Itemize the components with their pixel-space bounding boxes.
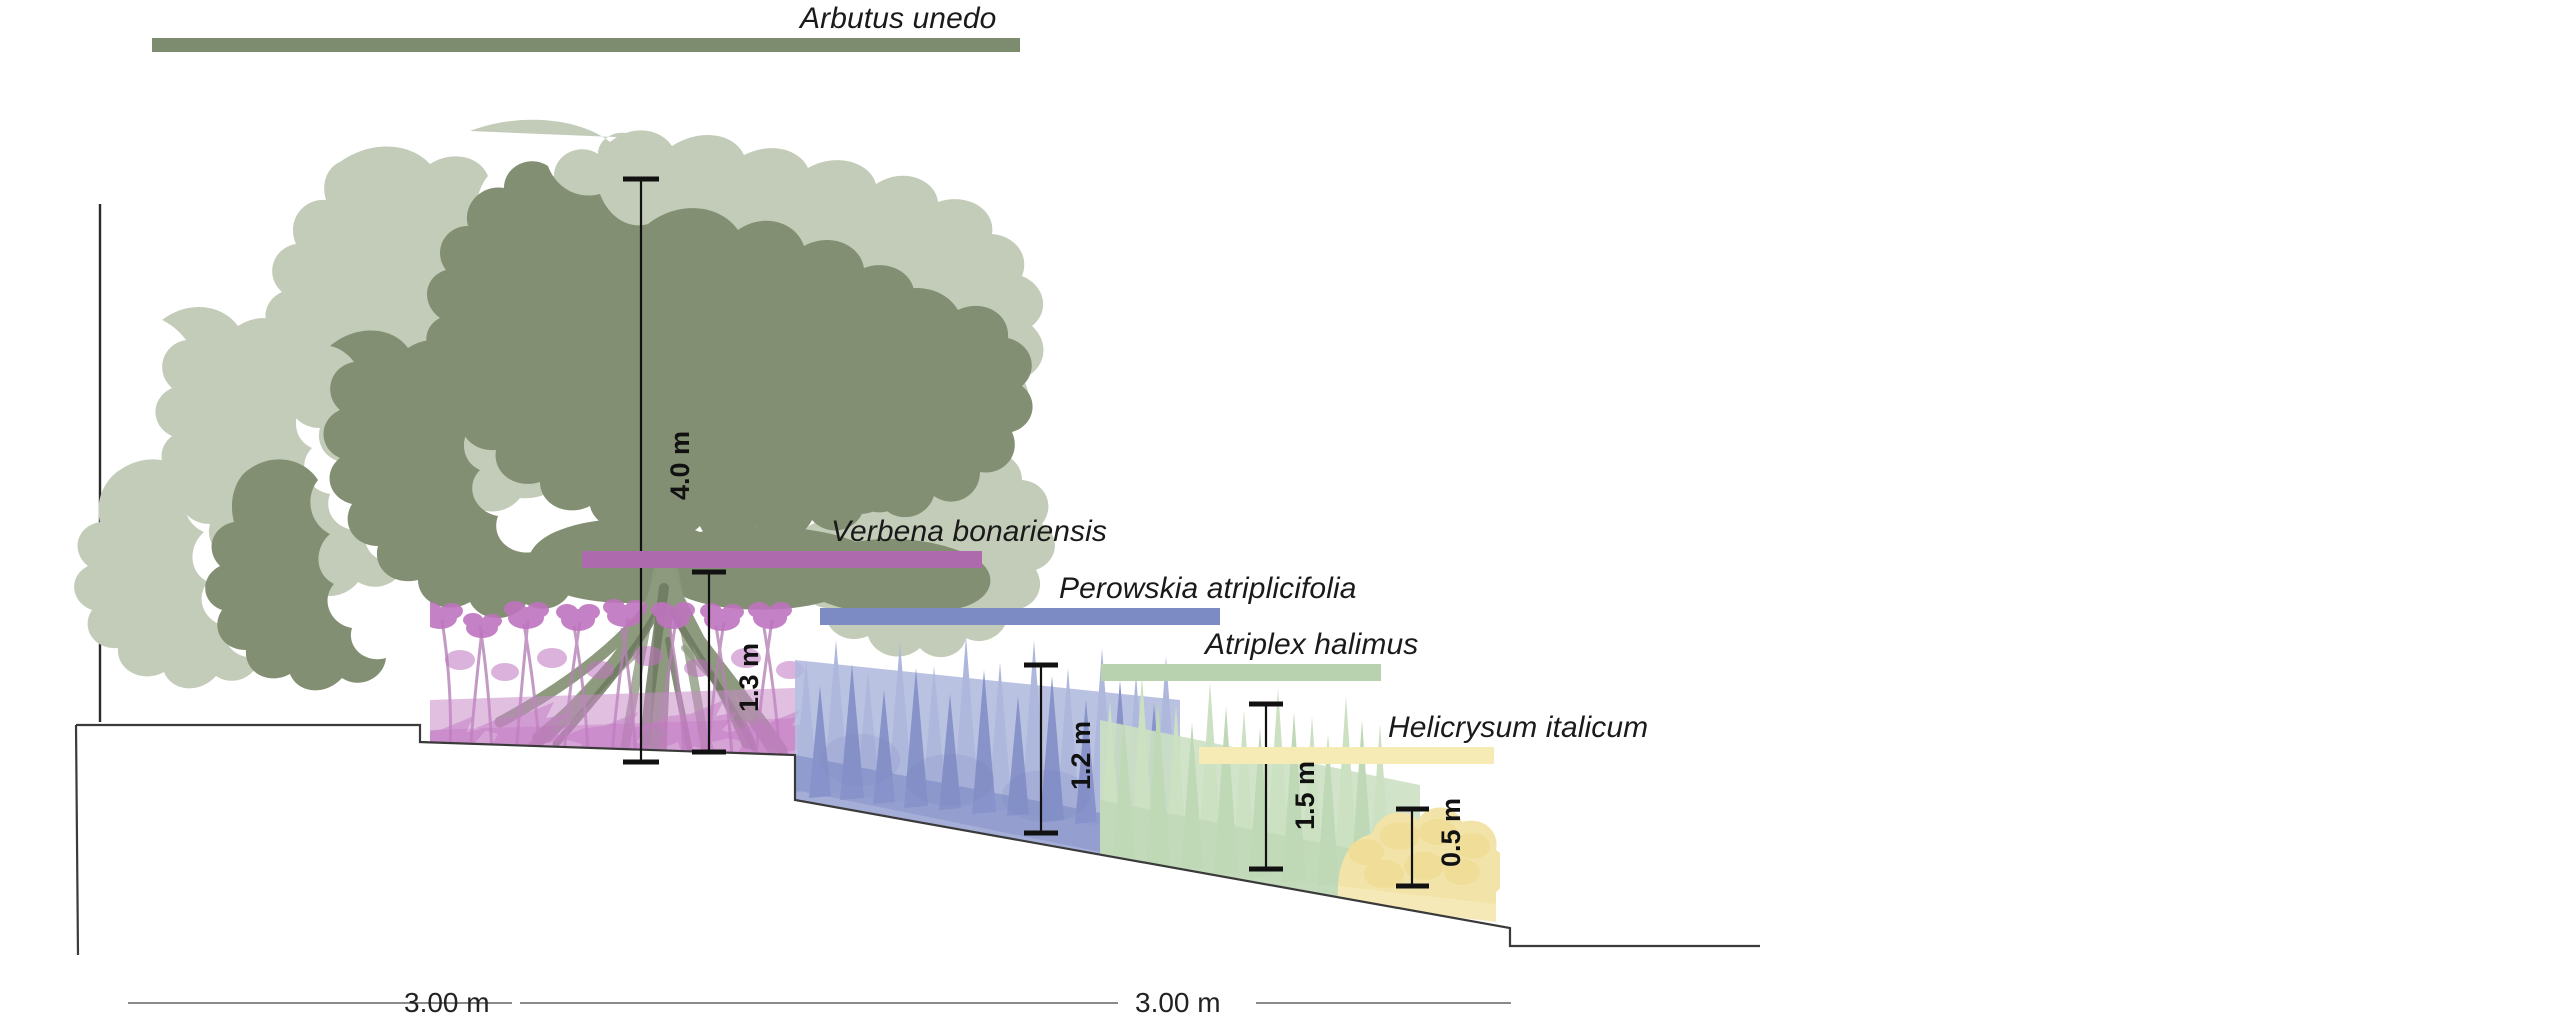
height-label-verbena-bonariensis: 1.3 m [734, 643, 765, 712]
species-bar-verbena-bonariensis [582, 551, 982, 568]
height-label-helicrysum-italicum: 0.5 m [1436, 798, 1467, 867]
species-label-atriplex-halimus: Atriplex halimus [1205, 628, 1418, 662]
species-bar-helicrysum-italicum [1199, 747, 1494, 764]
species-label-helicrysum-italicum: Helicrysum italicum [1388, 711, 1648, 745]
species-bar-atriplex-halimus [1101, 664, 1381, 681]
height-label-atriplex-halimus: 1.5 m [1290, 761, 1321, 830]
cross-section-drawing [0, 0, 2560, 1023]
species-bar-arbutus-unedo [152, 38, 1020, 52]
species-label-arbutus-unedo: Arbutus unedo [800, 2, 996, 36]
species-label-verbena-bonariensis: Verbena bonariensis [831, 515, 1107, 549]
plan-dimension-label-1: 3.00 m [404, 987, 490, 1019]
diagram-canvas: Arbutus unedo Verbena bonariensis Perows… [0, 0, 2560, 1023]
species-label-perowskia-atriplicifolia: Perowskia atriplicifolia [1059, 572, 1357, 606]
species-bar-perowskia-atriplicifolia [820, 608, 1220, 625]
height-label-arbutus-unedo: 4.0 m [665, 431, 696, 500]
plan-dimension-label-2: 3.00 m [1135, 987, 1221, 1019]
height-label-perowskia-atriplicifolia: 1.2 m [1066, 721, 1097, 790]
